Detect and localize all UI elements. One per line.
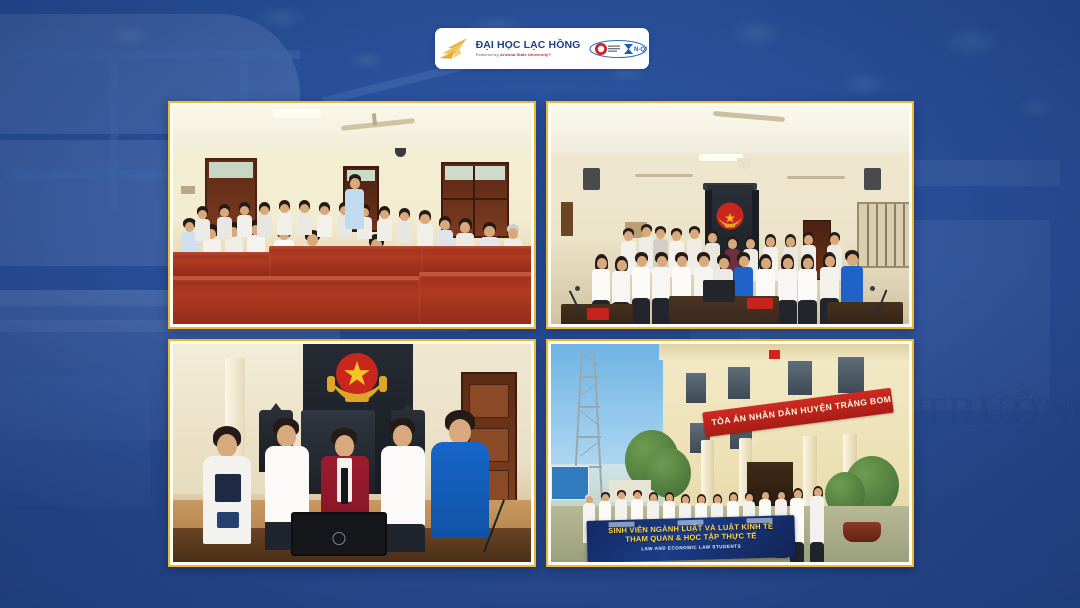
photo-courtroom-gallery [173, 106, 531, 324]
lac-hong-bird-logo-icon [437, 36, 473, 62]
accreditation-seal-group-icon: N-QA [589, 39, 647, 59]
vietnam-national-emblem-icon [714, 200, 746, 232]
vietnam-national-emblem-icon [325, 350, 389, 406]
tagline-partner: Arizona State University [500, 52, 548, 57]
tagline-suffix: ® [548, 52, 551, 57]
blue-outbuilding [551, 466, 589, 500]
photo-grid: TÒA ÁN NHÂN DÂN HUYỆN TRẢNG BOM [168, 101, 914, 575]
photo-courthouse-exterior: TÒA ÁN NHÂN DÂN HUYỆN TRẢNG BOM [551, 344, 909, 562]
dell-monitor [291, 512, 387, 556]
logo-text-block: ĐẠI HỌC LẠC HỒNG Powered by Arizona Stat… [476, 40, 581, 56]
speaker-left [583, 168, 600, 190]
photo-students-judge-bench [173, 344, 531, 562]
desk-right [827, 302, 903, 324]
university-name: ĐẠI HỌC LẠC HỒNG [476, 40, 581, 51]
accreditation-logos: N-QA [589, 39, 647, 59]
dell-logo-icon [333, 532, 346, 545]
field-trip-banner: SINH VIÊN NGÀNH LUẬT VÀ LUẬT KINH TẾ THA… [586, 515, 795, 562]
tree-left-2 [647, 448, 691, 498]
bench-front [173, 278, 445, 324]
nameplate-left [587, 308, 609, 320]
bench-front-right [419, 274, 531, 324]
ceiling-light [737, 158, 751, 169]
speaker-right [864, 168, 881, 190]
photo-courtroom-group [551, 106, 909, 324]
vietnam-flag [769, 350, 780, 359]
security-camera [395, 148, 406, 157]
planter-pot [843, 522, 881, 542]
barred-window [857, 202, 909, 268]
photo-frame-1[interactable] [168, 101, 536, 329]
university-tagline: Powered by Arizona State University® [476, 53, 581, 57]
photo-frame-4[interactable]: TÒA ÁN NHÂN DÂN HUYỆN TRẢNG BOM [546, 339, 914, 567]
ceiling-fan-right [787, 176, 845, 179]
photo-frame-2[interactable] [546, 101, 914, 329]
logo-lockup: ĐẠI HỌC LẠC HỒNG Powered by Arizona Stat… [437, 36, 581, 62]
university-logo-bar[interactable]: ĐẠI HỌC LẠC HỒNG Powered by Arizona Stat… [435, 28, 649, 69]
nameplate-center [747, 298, 773, 309]
collage-stage: TRƯỜNG Đ ĐẠI HỌC LẠC HỒNG Powered by Ari… [0, 0, 1080, 608]
desk-monitor [703, 280, 735, 302]
svg-text:N-QA: N-QA [634, 47, 647, 53]
photo-frame-3[interactable] [168, 339, 536, 567]
ceiling-fan-left [635, 174, 693, 177]
tagline-prefix: Powered by [476, 52, 500, 57]
